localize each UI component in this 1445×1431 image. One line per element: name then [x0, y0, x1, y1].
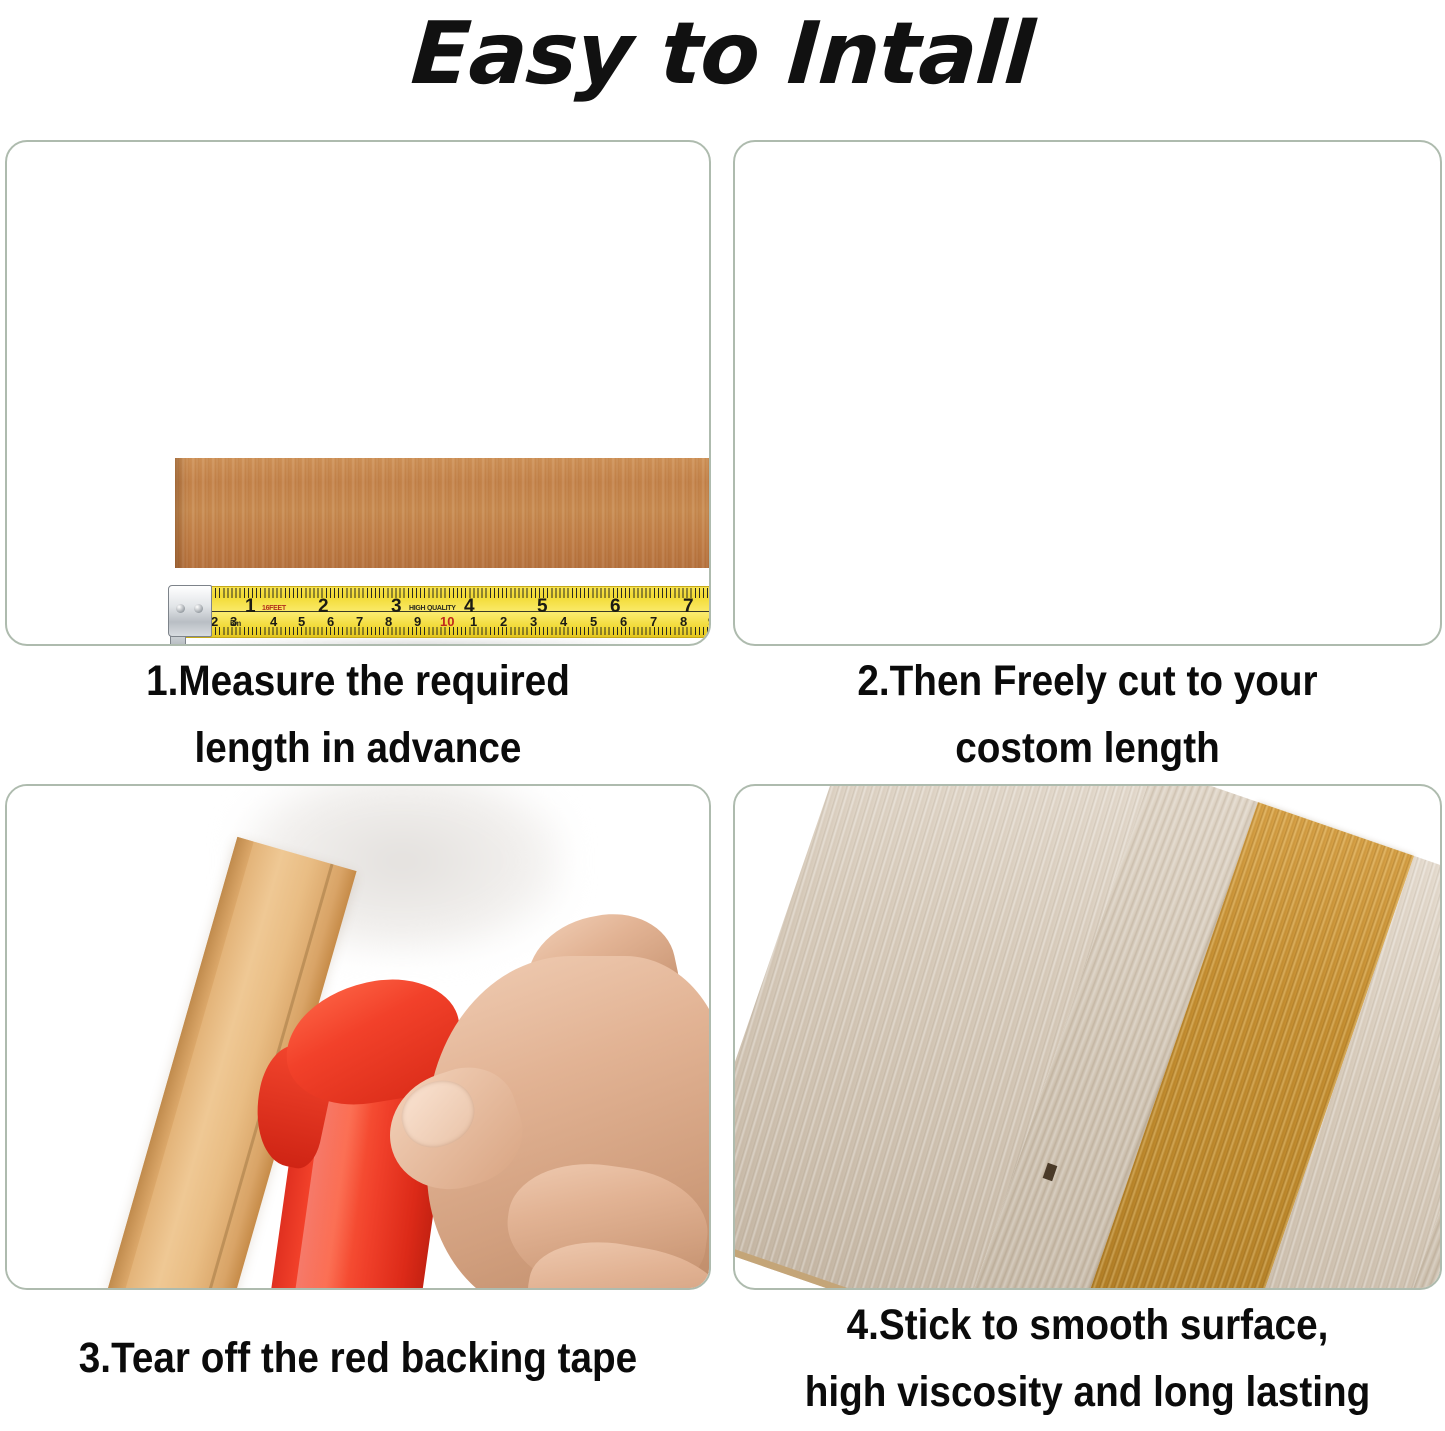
page-title: Easy to Intall [0, 2, 1445, 106]
tape-metric-mark: 8 [680, 615, 687, 628]
step-4-caption: 4.Stick to smooth surface, high viscosit… [768, 1292, 1406, 1426]
tape-metric-mark: 6 [620, 615, 627, 628]
wood-trim-strip-image [175, 458, 711, 568]
tape-metric-mark: 4 [560, 615, 567, 628]
tape-imperial-mark: 6 [610, 597, 621, 616]
step-2-image-panel [733, 140, 1442, 646]
step-3-image-panel [5, 784, 711, 1290]
tape-metric-mark: 3 [230, 615, 237, 628]
tape-metric-mark: 2 [211, 615, 218, 628]
tape-metric-mark: 5 [298, 615, 305, 628]
step-4-image-panel [733, 784, 1442, 1290]
trim-strip-edge [108, 837, 254, 1290]
tape-metric-mark: 10 [440, 615, 454, 628]
tape-imperial-mark: 3 [391, 597, 402, 616]
tape-measure-shadow [182, 639, 662, 646]
tape-metric-mark: 3 [530, 615, 537, 628]
tape-metric-mark: 1 [470, 615, 477, 628]
tape-metric-mark: 2 [500, 615, 507, 628]
peel-backing-tape-photo [7, 786, 709, 1288]
floor-front-edge [733, 784, 1442, 1290]
hook-rivet [194, 604, 203, 613]
tape-brand-right-text: HIGH QUALITY [409, 605, 456, 612]
tape-metric-mark: 4 [270, 615, 277, 628]
tape-brand-left-text: 16FEET [262, 605, 286, 612]
tape-metric-mark: 7 [650, 615, 657, 628]
step-1-caption: 1.Measure the required length in advance [40, 648, 675, 782]
step-3-caption: 3.Tear off the red backing tape [40, 1325, 675, 1392]
step-2-caption: 2.Then Freely cut to your costom length [768, 648, 1406, 782]
tape-metric-mark: 9 [708, 615, 711, 628]
easy-to-install-infographic: Easy to Intall 1 2 3 4 5 6 7 16FEET HIGH… [0, 0, 1445, 1431]
tape-measure-image: 1 2 3 4 5 6 7 16FEET HIGH QUALITY 5m 2 3… [170, 586, 711, 636]
tape-imperial-mark: 1 [245, 597, 256, 616]
tape-metric-mark: 9 [414, 615, 421, 628]
tape-measure-hook [168, 585, 212, 637]
tape-metric-mark: 7 [356, 615, 363, 628]
tape-metric-mark: 6 [327, 615, 334, 628]
tape-metric-mark: 8 [385, 615, 392, 628]
step-1-image-panel: 1 2 3 4 5 6 7 16FEET HIGH QUALITY 5m 2 3… [5, 140, 711, 646]
tape-metric-mark: 5 [590, 615, 597, 628]
hook-rivet [176, 604, 185, 613]
tape-imperial-mark: 5 [537, 597, 548, 616]
